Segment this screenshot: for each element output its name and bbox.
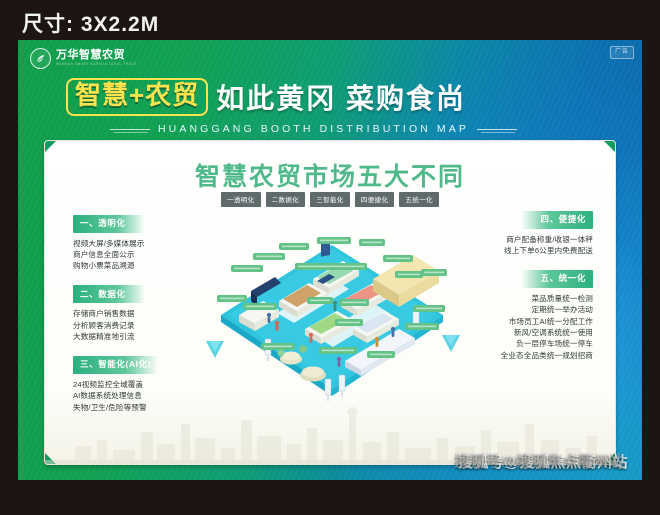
features-right-column: 四、便捷化商户配备称重/收银一体秤线上下单6公里内免费配送五、统一化菜品质量统一…: [443, 209, 593, 373]
feature-item: 新风/空调系统统一使用: [443, 327, 593, 338]
rule-left-decoration: [110, 129, 150, 130]
tag-1: 一透明化: [221, 192, 261, 207]
watermark-ghost: 搜狐号@搜狐焦点衢州站: [454, 450, 624, 471]
tag-3: 三智能化: [310, 192, 350, 207]
feature-heading: 一、透明化: [73, 215, 145, 233]
feature-item: 线上下单6公里内免费配送: [443, 245, 593, 256]
leaf-emblem-icon: [30, 48, 51, 69]
feature-item-list: 24视频监控全域覆盖AI数据系统处理信息失物/卫生/危险等预警: [73, 379, 223, 413]
feature-item: 全业态全品类统一规划招商: [443, 350, 593, 361]
feature-item: 24视频监控全域覆盖: [73, 379, 223, 390]
tag-row: 一透明化二数据化三智能化四便捷化五统一化: [45, 192, 615, 207]
feature-block: 二、数据化存储商户销售数据分析顾客消费记录大数据精准地引流: [73, 284, 223, 343]
corner-notch-tr: [603, 140, 616, 153]
feature-heading: 二、数据化: [73, 285, 145, 303]
headline-main: 如此黄冈 菜购食尚: [216, 77, 466, 117]
feature-item: 负一层停车场统一停车: [443, 338, 593, 349]
rule-right-decoration: [477, 129, 517, 130]
poster-image: 广告 万华智慧农贸 WANHUA SMART AGRICULTURAL TRAD…: [18, 40, 642, 480]
feature-heading: 三、智能化(AI化): [73, 356, 158, 374]
feature-block: 四、便捷化商户配备称重/收银一体秤线上下单6公里内免费配送: [443, 209, 593, 256]
feature-item: 定期统一举办活动: [443, 304, 593, 315]
feature-block: 三、智能化(AI化)24视频监控全域覆盖AI数据系统处理信息失物/卫生/危险等预…: [73, 354, 223, 413]
feature-item-list: 视频大屏/多媒体展示商户信息全面公示购物小票菜品溯源: [73, 238, 223, 272]
feature-item: 商户信息全面公示: [73, 249, 223, 260]
feature-item: 商户配备称重/收银一体秤: [443, 234, 593, 245]
ad-badge[interactable]: 广告: [610, 46, 634, 59]
tag-4: 四便捷化: [355, 192, 395, 207]
headline-subtitle-row: HUANGGANG BOOTH DISTRIBUTION MAP: [110, 123, 517, 135]
poster-headline: 智慧+农贸 如此黄冈 菜购食尚: [66, 77, 466, 117]
feature-item: 分析顾客消费记录: [73, 320, 223, 331]
feature-item: 菜品质量统一检测: [443, 293, 593, 304]
feature-heading: 四、便捷化: [521, 211, 593, 229]
feature-item: 失物/卫生/危险等预警: [73, 402, 223, 413]
headline-badge: 智慧+农贸: [66, 78, 208, 115]
corner-notch-tl: [44, 140, 57, 153]
watermark: 搜狐号@搜狐焦点衢州站 搜狐号@搜狐焦点衢州站: [458, 451, 628, 472]
size-caption: 尺寸: 3X2.2M: [22, 8, 159, 38]
headline-subtitle-en: HUANGGANG BOOTH DISTRIBUTION MAP: [158, 123, 469, 135]
feature-item: 市场员工AI统一分配工作: [443, 316, 593, 327]
feature-item: 购物小票菜品溯源: [73, 260, 223, 271]
feature-block: 五、统一化菜品质量统一检测定期统一举办活动市场员工AI统一分配工作新风/空调系统…: [443, 268, 593, 361]
tag-2: 二数据化: [266, 192, 306, 207]
brand-name-en: WANHUA SMART AGRICULTURAL TRADE: [56, 63, 137, 66]
feature-heading: 五、统一化: [521, 270, 593, 288]
feature-item-list: 菜品质量统一检测定期统一举办活动市场员工AI统一分配工作新风/空调系统统一使用负…: [443, 293, 593, 361]
brand-name-cn: 万华智慧农贸: [56, 50, 137, 61]
tag-5: 五统一化: [399, 192, 439, 207]
brand-logo: 万华智慧农贸 WANHUA SMART AGRICULTURAL TRADE: [30, 48, 137, 69]
feature-item: 大数据精准地引流: [73, 331, 223, 342]
page-title: 智慧农贸市场五大不同: [45, 157, 615, 193]
feature-item-list: 存储商户销售数据分析顾客消费记录大数据精准地引流: [73, 308, 223, 342]
booth-distribution-3d-map: [217, 219, 447, 424]
feature-item-list: 商户配备称重/收银一体秤线上下单6公里内免费配送: [443, 234, 593, 257]
feature-item: 视频大屏/多媒体展示: [73, 238, 223, 249]
feature-item: AI数据系统处理信息: [73, 390, 223, 401]
feature-block: 一、透明化视频大屏/多媒体展示商户信息全面公示购物小票菜品溯源: [73, 213, 223, 272]
content-card: 智慧农贸市场五大不同 一透明化二数据化三智能化四便捷化五统一化 一、透明化视频大…: [44, 140, 616, 465]
feature-item: 存储商户销售数据: [73, 308, 223, 319]
features-left-column: 一、透明化视频大屏/多媒体展示商户信息全面公示购物小票菜品溯源二、数据化存储商户…: [73, 213, 223, 425]
